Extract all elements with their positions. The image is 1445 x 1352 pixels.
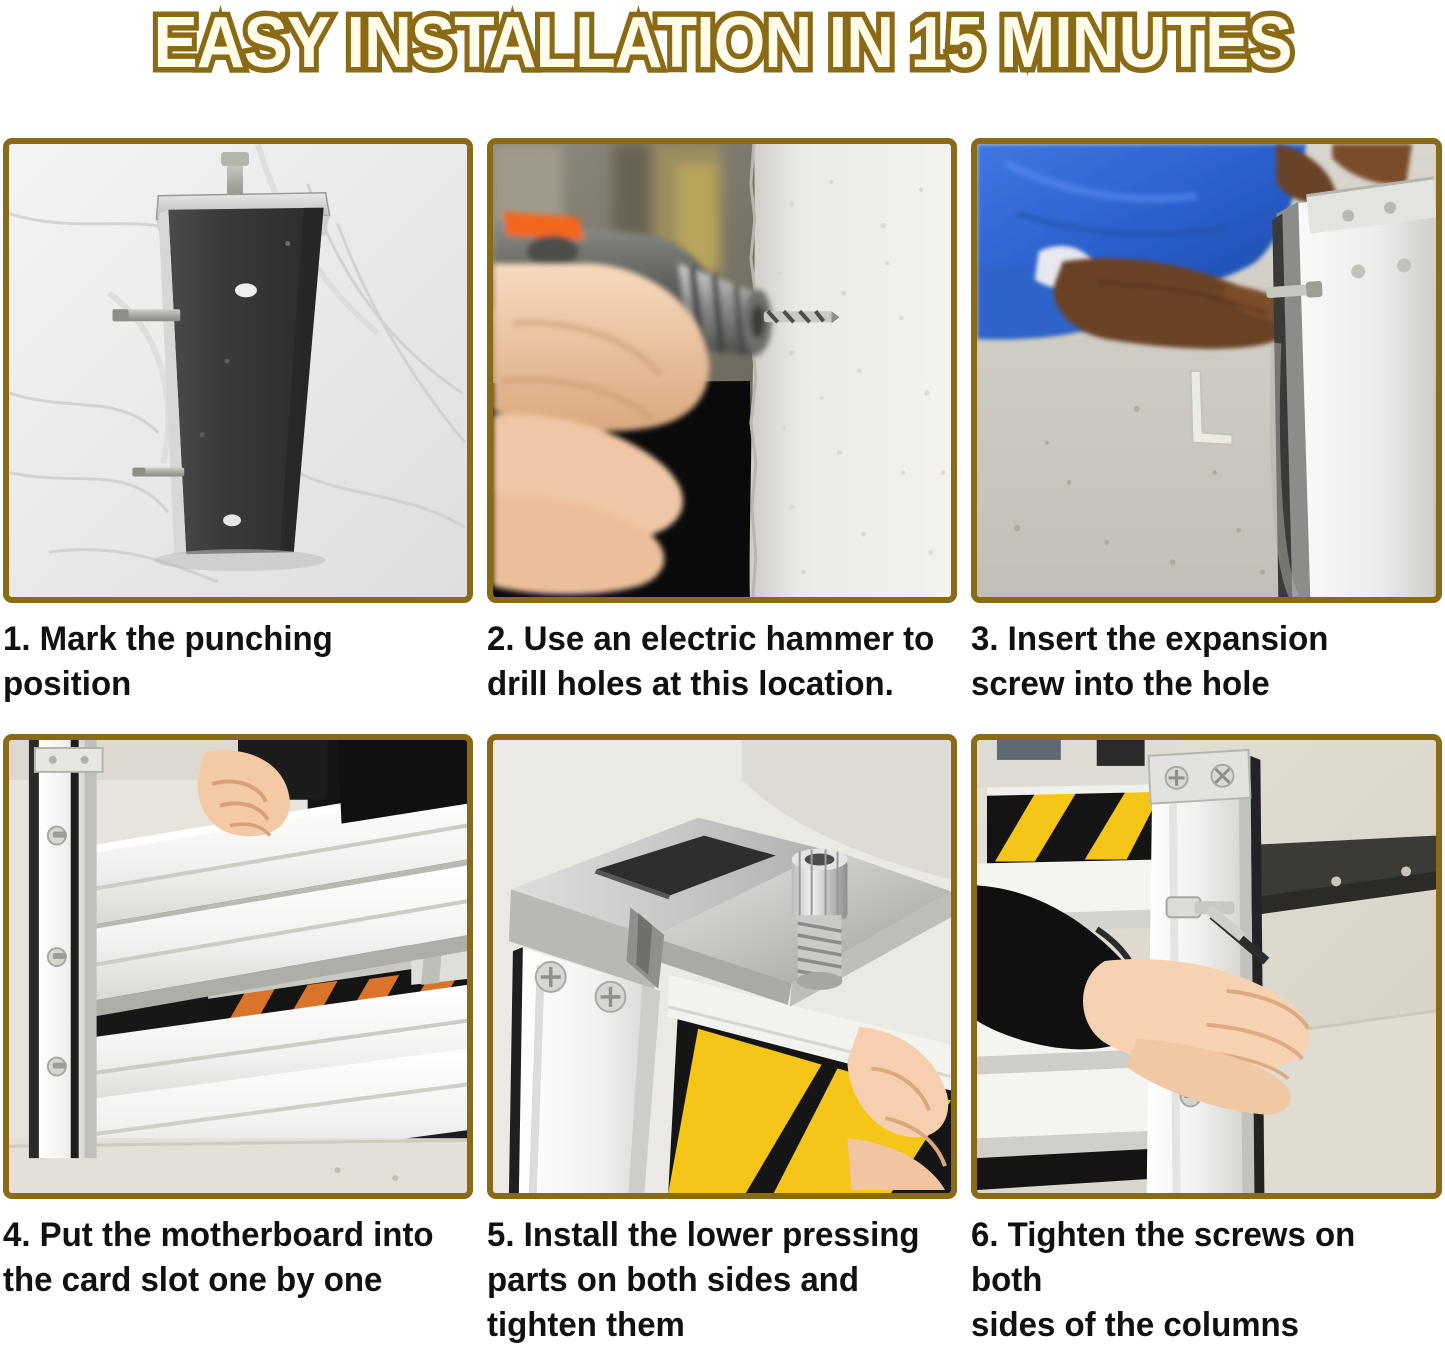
step-caption-2: 2. Use an electric hammer to drill holes… xyxy=(487,617,943,707)
insert-screw-illustration xyxy=(977,144,1436,597)
step-image-5 xyxy=(487,734,957,1199)
steps-grid: 1. Mark the punching position xyxy=(3,138,1442,1348)
step-caption-5: 5. Install the lower pressing parts on b… xyxy=(487,1213,943,1348)
step-caption-1: 1. Mark the punching position xyxy=(3,617,459,707)
mark-position-illustration xyxy=(9,144,467,597)
step-image-6 xyxy=(971,734,1442,1199)
step-card-4: 4. Put the motherboard into the card slo… xyxy=(3,734,473,1348)
step-card-5: 5. Install the lower pressing parts on b… xyxy=(487,734,957,1348)
step-card-6: 6. Tighten the screws on both sides of t… xyxy=(971,734,1442,1348)
step-card-1: 1. Mark the punching position xyxy=(3,138,473,707)
steps-row-1: 1. Mark the punching position xyxy=(3,138,1442,707)
step-card-3: 3. Insert the expansion screw into the h… xyxy=(971,138,1442,707)
step-image-1 xyxy=(3,138,473,603)
pressing-part-illustration xyxy=(493,740,951,1193)
step-image-4 xyxy=(3,734,473,1199)
insert-boards-illustration xyxy=(9,740,467,1193)
page-title: EASY INSTALLATION IN 15 MINUTES xyxy=(153,7,1291,79)
steps-row-2: 4. Put the motherboard into the card slo… xyxy=(3,734,1442,1348)
step-image-3 xyxy=(971,138,1442,603)
drill-wall-illustration xyxy=(493,144,951,597)
step-caption-4: 4. Put the motherboard into the card slo… xyxy=(3,1213,459,1303)
step-caption-6: 6. Tighten the screws on both sides of t… xyxy=(971,1213,1428,1348)
step-image-2 xyxy=(487,138,957,603)
infographic-sheet: EASY INSTALLATION IN 15 MINUTES xyxy=(0,0,1445,1352)
step-caption-3: 3. Insert the expansion screw into the h… xyxy=(971,617,1428,707)
title-banner: EASY INSTALLATION IN 15 MINUTES xyxy=(0,0,1445,86)
step-card-2: 2. Use an electric hammer to drill holes… xyxy=(487,138,957,707)
tighten-screws-illustration xyxy=(977,740,1436,1193)
